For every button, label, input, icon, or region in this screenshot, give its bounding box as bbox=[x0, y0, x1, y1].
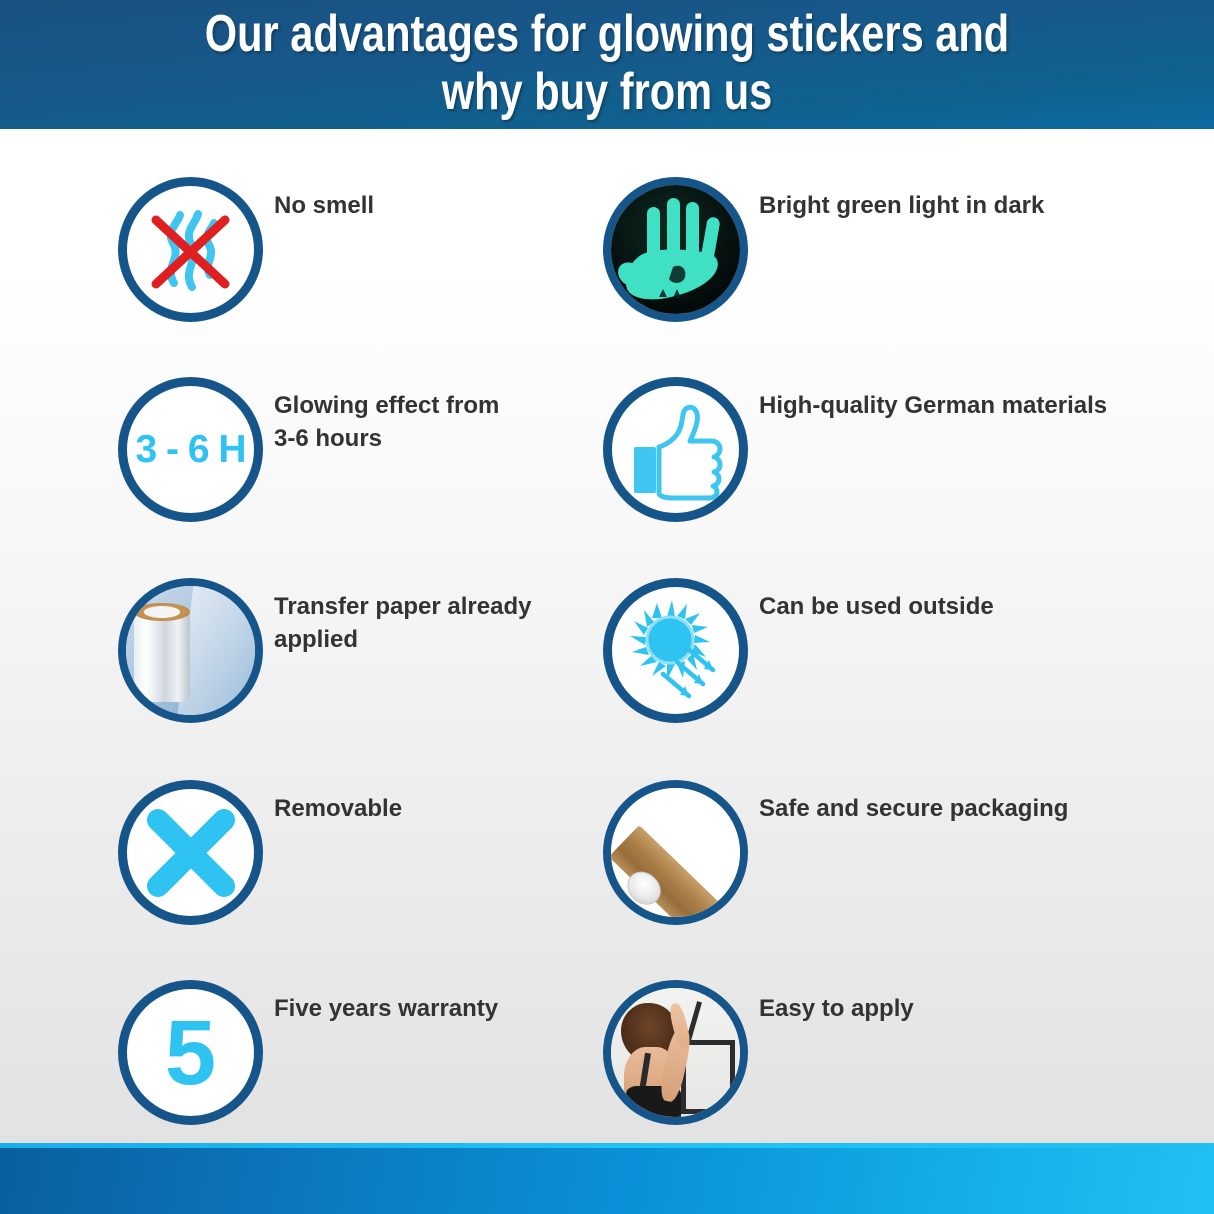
feature-label: Bright green light in dark bbox=[759, 189, 1179, 222]
advantages-infographic: Our advantages for glowing stickers and … bbox=[0, 0, 1214, 1214]
feature-item-secure-packaging: Safe and secure packaging bbox=[603, 780, 1123, 956]
feature-label: Glowing effect from 3-6 hours bbox=[274, 389, 634, 455]
sun-rays-icon bbox=[603, 578, 748, 723]
feature-item-easy-to-apply: Easy to apply bbox=[603, 980, 1123, 1156]
no-smell-icon bbox=[118, 177, 263, 322]
thumbs-up-icon bbox=[603, 377, 748, 522]
feature-label: Safe and secure packaging bbox=[759, 792, 1179, 825]
duration-icon-text: 3 - 6 H bbox=[135, 430, 245, 469]
feature-label: No smell bbox=[274, 189, 634, 222]
feature-item-glowing-effect-duration: 3 - 6 H Glowing effect from 3-6 hours bbox=[118, 377, 638, 553]
mailing-tube-icon bbox=[603, 780, 748, 925]
features-grid: No smell bbox=[0, 129, 1214, 1150]
feature-item-used-outside: Can be used outside bbox=[603, 578, 1123, 754]
feature-item-transfer-paper: Transfer paper already applied bbox=[118, 578, 638, 754]
feature-item-five-years-warranty: 5 Five years warranty bbox=[118, 980, 638, 1156]
transfer-paper-roll-icon bbox=[118, 578, 263, 723]
x-mark-icon bbox=[118, 780, 263, 925]
feature-label: Five years warranty bbox=[274, 992, 634, 1025]
feature-label: Transfer paper already applied bbox=[274, 590, 634, 656]
feature-item-no-smell: No smell bbox=[118, 177, 638, 353]
feature-label: Can be used outside bbox=[759, 590, 1179, 623]
glowing-handprint-icon bbox=[603, 177, 748, 322]
duration-3-6h-icon: 3 - 6 H bbox=[118, 377, 263, 522]
feature-item-german-materials: High-quality German materials bbox=[603, 377, 1123, 553]
feature-label: Easy to apply bbox=[759, 992, 1179, 1025]
warranty-number-text: 5 bbox=[165, 1007, 216, 1099]
number-five-icon: 5 bbox=[118, 980, 263, 1125]
page-title: Our advantages for glowing stickers and … bbox=[121, 5, 1092, 121]
woman-applying-sticker-icon bbox=[603, 980, 748, 1125]
feature-item-bright-green-light: Bright green light in dark bbox=[603, 177, 1123, 353]
footer-accent-strip bbox=[0, 1143, 1214, 1148]
footer-banner bbox=[0, 1143, 1214, 1214]
feature-label: Removable bbox=[274, 792, 634, 825]
feature-label: High-quality German materials bbox=[759, 389, 1179, 422]
header-banner: Our advantages for glowing stickers and … bbox=[0, 0, 1214, 129]
feature-item-removable: Removable bbox=[118, 780, 638, 956]
